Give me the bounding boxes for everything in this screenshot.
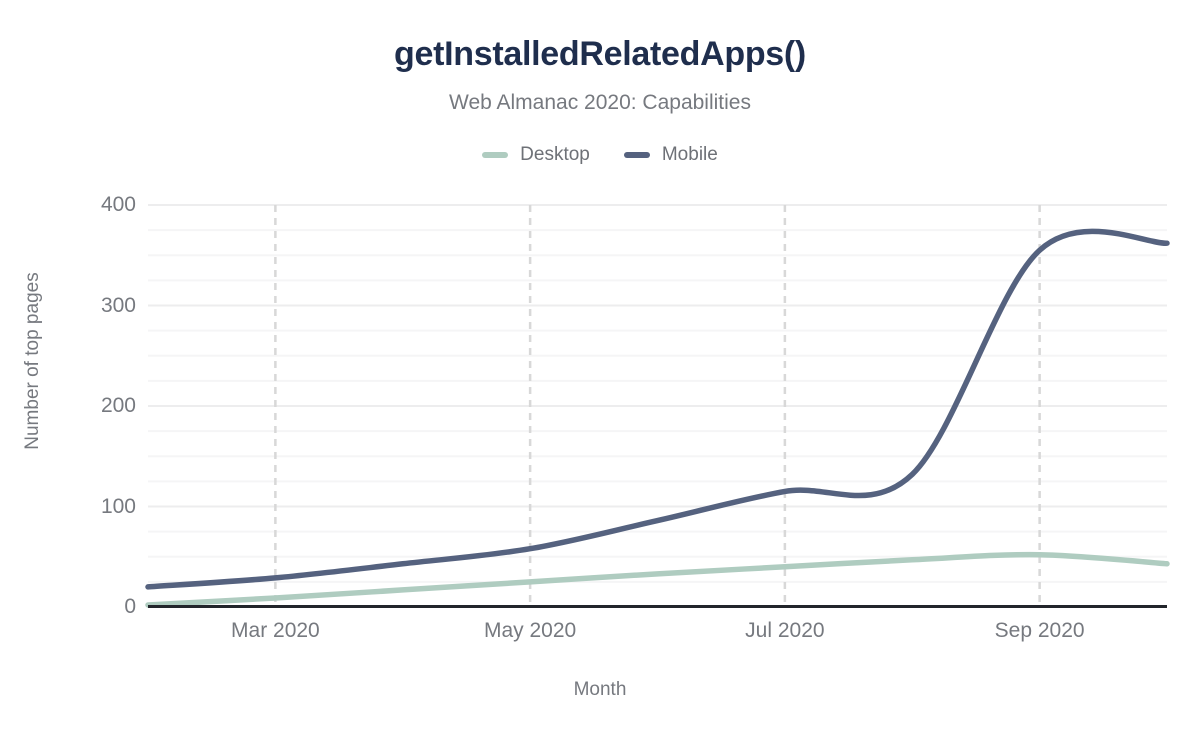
chart-container: getInstalledRelatedApps() Web Almanac 20… (0, 0, 1200, 742)
x-axis-title: Month (0, 678, 1200, 702)
x-axis-tick-label: Mar 2020 (185, 618, 365, 644)
x-axis-tick-label: Sep 2020 (950, 618, 1130, 644)
x-axis: Mar 2020May 2020Jul 2020Sep 2020 Month (0, 0, 1200, 742)
x-axis-tick-label: Jul 2020 (695, 618, 875, 644)
x-axis-tick-label: May 2020 (440, 618, 620, 644)
